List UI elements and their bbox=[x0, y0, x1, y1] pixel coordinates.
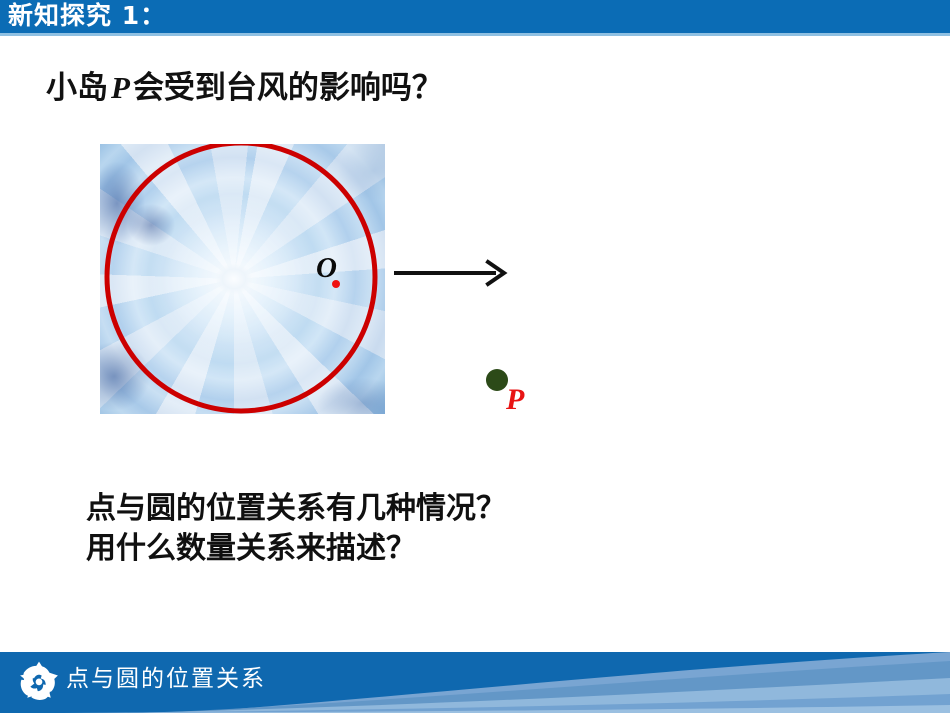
footer-lesson-title: 点与圆的位置关系 bbox=[66, 659, 266, 693]
slide-section-title: 新知探究 1： bbox=[8, 0, 166, 32]
direction-arrow-icon bbox=[392, 258, 512, 288]
main-question-text: 小岛P会受到台风的影响吗？ bbox=[46, 62, 443, 107]
circle-overlay bbox=[100, 144, 385, 414]
five-petal-flower-logo bbox=[18, 660, 60, 702]
point-p-label: P bbox=[506, 383, 524, 417]
header-underline bbox=[0, 33, 950, 36]
main-question-prefix: 小岛 bbox=[46, 70, 108, 106]
point-p-dot bbox=[486, 369, 508, 391]
main-question-variable: P bbox=[108, 70, 133, 105]
main-question-suffix: 会受到台风的影响吗？ bbox=[133, 70, 443, 106]
circle-center-dot bbox=[332, 280, 340, 288]
bottom-questions-block: 点与圆的位置关系有几种情况？ 用什么数量关系来描述？ bbox=[86, 489, 506, 569]
typhoon-figure: O R bbox=[100, 144, 385, 414]
bottom-question-line-2: 用什么数量关系来描述？ bbox=[86, 529, 506, 569]
bottom-question-line-1: 点与圆的位置关系有几种情况？ bbox=[86, 489, 506, 529]
